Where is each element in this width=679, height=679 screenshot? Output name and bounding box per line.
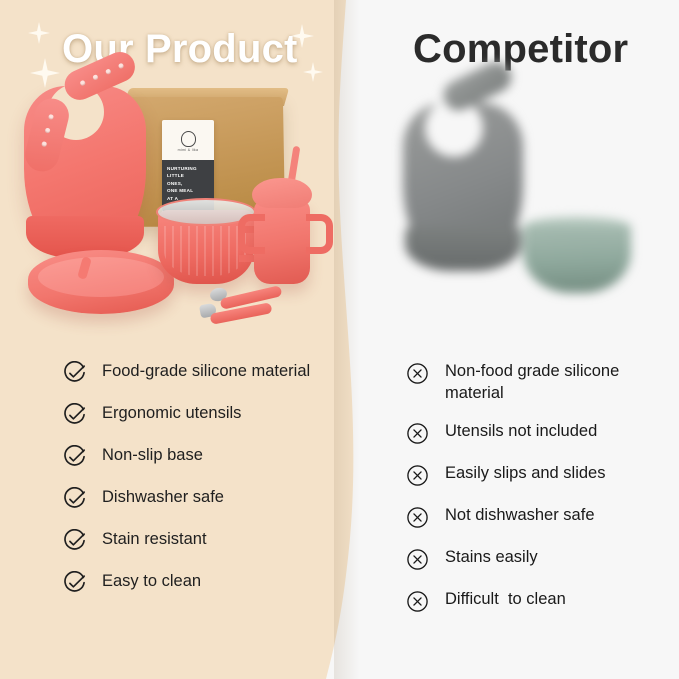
check-circle-icon [62, 571, 87, 596]
list-item: Difficult to clean [405, 588, 655, 614]
competitor-bib [403, 103, 523, 271]
check-circle-icon [62, 361, 87, 386]
list-item: Non-food grade silicone material [405, 360, 655, 404]
competitor-bib-pocket [405, 227, 521, 271]
feature-label: Food-grade silicone material [102, 360, 310, 382]
list-item: Stain resistant [62, 528, 312, 554]
bib-snap-icon [92, 74, 98, 80]
feature-label: Dishwasher safe [102, 486, 224, 508]
list-item: Not dishwasher safe [405, 504, 655, 530]
our-product-feature-list: Food-grade silicone material Ergonomic u… [62, 360, 312, 612]
bib-snap-icon [105, 69, 111, 75]
bib-snap-icon [118, 63, 124, 69]
list-item: Dishwasher safe [62, 486, 312, 512]
feature-label: Non-slip base [102, 444, 203, 466]
bib-snap-icon [41, 141, 46, 146]
list-item: Easy to clean [62, 570, 312, 596]
comparison-infographic: Our Product Competitor mimi & lika NURTU… [0, 0, 679, 679]
x-circle-icon [405, 505, 430, 530]
feature-label: Stains easily [445, 546, 538, 568]
bib-snap-icon [79, 80, 85, 86]
check-circle-icon [62, 529, 87, 554]
x-circle-icon [405, 463, 430, 488]
x-circle-icon [405, 547, 430, 572]
bowl-ribs [164, 226, 248, 276]
divided-suction-plate [28, 250, 174, 314]
cup-handle-right [306, 214, 333, 254]
check-circle-icon [62, 403, 87, 428]
feature-label: Utensils not included [445, 420, 597, 442]
tagline-line: LITTLE [167, 172, 210, 179]
feature-label: Ergonomic utensils [102, 402, 241, 424]
cup-handle-left [238, 214, 265, 254]
x-circle-icon [405, 421, 430, 446]
blurred-photo-group [395, 95, 675, 345]
brand-logo: mimi & lika [162, 126, 214, 156]
competitor-bowl-rim [523, 217, 631, 237]
feature-label: Not dishwasher safe [445, 504, 595, 526]
page-title-competitor: Competitor [413, 27, 628, 72]
plate-well [38, 257, 164, 297]
fork-handle [210, 302, 273, 325]
tagline-line: ONE MEAL [167, 187, 210, 194]
pineapple-mark-icon [181, 131, 196, 147]
list-item: Ergonomic utensils [62, 402, 312, 428]
check-circle-icon [62, 445, 87, 470]
feature-label: Non-food grade silicone material [445, 360, 655, 404]
list-item: Food-grade silicone material [62, 360, 312, 386]
cup-lid [252, 178, 312, 208]
tagline-line: NURTURING [167, 165, 210, 172]
competitor-product-photo [395, 95, 675, 345]
list-item: Utensils not included [405, 420, 655, 446]
list-item: Non-slip base [62, 444, 312, 470]
brand-name: mimi & lika [178, 148, 199, 152]
x-circle-icon [405, 589, 430, 614]
feature-label: Easy to clean [102, 570, 201, 592]
list-item: Easily slips and slides [405, 462, 655, 488]
bib-snap-icon [45, 127, 50, 132]
feature-label: Stain resistant [102, 528, 207, 550]
our-product-photo: mimi & lika NURTURING LITTLE ONES, ONE M… [14, 82, 340, 344]
x-circle-icon [405, 361, 430, 386]
list-item: Stains easily [405, 546, 655, 572]
feature-label: Easily slips and slides [445, 462, 606, 484]
competitor-feature-list: Non-food grade silicone material Utensil… [405, 360, 655, 630]
feature-label: Difficult to clean [445, 588, 566, 610]
tagline-line: ONES, [167, 180, 210, 187]
check-circle-icon [62, 487, 87, 512]
bib-snap-icon [48, 114, 53, 119]
